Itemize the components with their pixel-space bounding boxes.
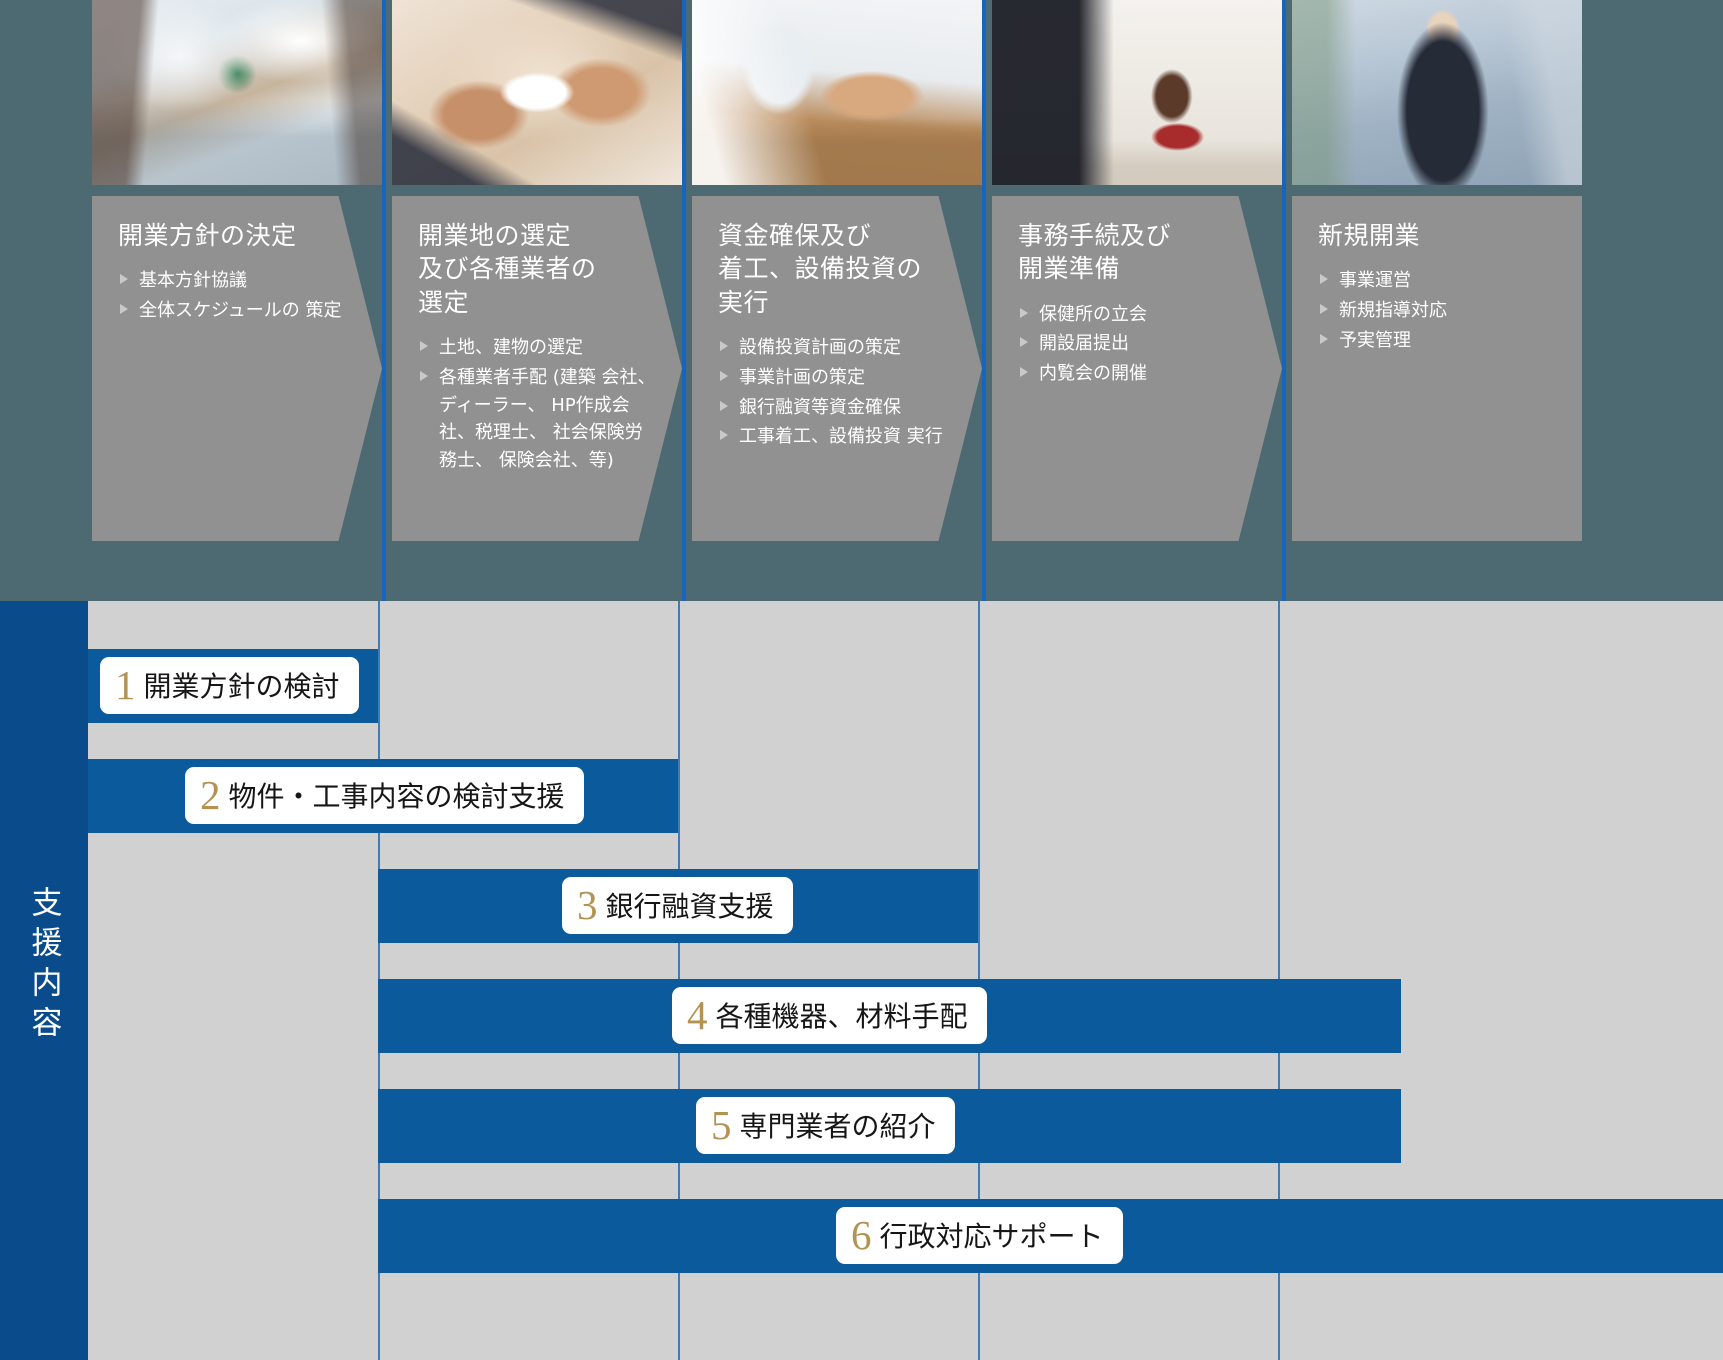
triangle-bullet-icon — [720, 371, 728, 381]
gantt-track: 1 開業方針の検討 2 物件・工事内容の検討支援 3 銀行融資支援 4 各種機器… — [88, 601, 1723, 1360]
phase-photo-2 — [392, 0, 682, 185]
phase-card-5: 新規開業 事業運営 新規指導対応 予実管理 — [1292, 196, 1582, 541]
triangle-bullet-icon — [120, 304, 128, 314]
phase-column-2: 開業地の選定 及び各種業者の 選定 土地、建物の選定 各種業者手配 (建築 会社… — [392, 0, 682, 601]
support-bar-number: 4 — [687, 997, 708, 1034]
phase-item: 開設届提出 — [1018, 330, 1256, 358]
phase-item: 予実管理 — [1318, 327, 1556, 355]
triangle-bullet-icon — [720, 401, 728, 411]
support-bar-number: 1 — [115, 667, 136, 704]
support-side-label-text: 支援内容 — [29, 886, 60, 1046]
triangle-bullet-icon — [420, 341, 428, 351]
triangle-bullet-icon — [420, 371, 428, 381]
triangle-bullet-icon — [1320, 334, 1328, 344]
phase-photo-3 — [692, 0, 982, 185]
phase-item: 土地、建物の選定 — [418, 334, 656, 362]
phase-item: 設備投資計画の策定 — [718, 334, 956, 362]
phase-item: 内覧会の開催 — [1018, 360, 1256, 388]
support-pill-5[interactable]: 5 専門業者の紹介 — [696, 1097, 955, 1154]
phase-item: 銀行融資等資金確保 — [718, 394, 956, 422]
support-gantt: 支援内容 1 開業方針の検討 2 物件・工事内容の検討支援 3 — [0, 601, 1723, 1360]
support-bar-label: 開業方針の検討 — [144, 665, 340, 705]
support-side-label: 支援内容 — [0, 601, 88, 1360]
phase-column-3: 資金確保及び 着工、設備投資の 実行 設備投資計画の策定 事業計画の策定 銀行融… — [692, 0, 982, 601]
phase-column-5: 新規開業 事業運営 新規指導対応 予実管理 — [1292, 0, 1582, 601]
support-bar-label: 行政対応サポート — [880, 1215, 1104, 1255]
phase-title: 開業方針の決定 — [118, 220, 356, 253]
phase-card-1: 開業方針の決定 基本方針協議 全体スケジュールの 策定 — [92, 196, 382, 541]
phase-card-4: 事務手続及び 開業準備 保健所の立会 開設届提出 内覧会の開催 — [992, 196, 1282, 541]
support-bar-label: 物件・工事内容の検討支援 — [229, 775, 565, 815]
phase-item: 保健所の立会 — [1018, 301, 1256, 329]
support-bar-number: 6 — [851, 1217, 872, 1254]
support-pill-3[interactable]: 3 銀行融資支援 — [562, 877, 793, 934]
support-bar-label: 専門業者の紹介 — [740, 1105, 936, 1145]
support-bar-label: 各種機器、材料手配 — [716, 995, 968, 1035]
phase-item-list: 土地、建物の選定 各種業者手配 (建築 会社、ディーラー、 HP作成会社、税理士… — [418, 334, 656, 475]
phase-photo-4 — [992, 0, 1282, 185]
support-pill-2[interactable]: 2 物件・工事内容の検討支援 — [185, 767, 584, 824]
phase-item: 基本方針協議 — [118, 267, 356, 295]
phase-item-list: 基本方針協議 全体スケジュールの 策定 — [118, 267, 356, 325]
triangle-bullet-icon — [1320, 274, 1328, 284]
phase-item-list: 事業運営 新規指導対応 予実管理 — [1318, 267, 1556, 355]
phase-item-list: 設備投資計画の策定 事業計画の策定 銀行融資等資金確保 工事着工、設備投資 実行 — [718, 334, 956, 452]
phase-strip: 開業方針の決定 基本方針協議 全体スケジュールの 策定 開業地の選定 及び各種業… — [0, 0, 1723, 601]
phase-title: 事務手続及び 開業準備 — [1018, 220, 1256, 287]
phase-column-4: 事務手続及び 開業準備 保健所の立会 開設届提出 内覧会の開催 — [992, 0, 1282, 601]
phase-title: 新規開業 — [1318, 220, 1556, 253]
phase-card-2: 開業地の選定 及び各種業者の 選定 土地、建物の選定 各種業者手配 (建築 会社… — [392, 196, 682, 541]
support-pill-1[interactable]: 1 開業方針の検討 — [100, 657, 359, 714]
triangle-bullet-icon — [720, 341, 728, 351]
support-bar-number: 3 — [577, 887, 598, 924]
triangle-bullet-icon — [120, 274, 128, 284]
support-pill-4[interactable]: 4 各種機器、材料手配 — [672, 987, 987, 1044]
phase-divider-4 — [1282, 0, 1286, 601]
triangle-bullet-icon — [1020, 308, 1028, 318]
process-diagram: 開業方針の決定 基本方針協議 全体スケジュールの 策定 開業地の選定 及び各種業… — [0, 0, 1723, 1360]
triangle-bullet-icon — [1020, 337, 1028, 347]
phase-item-list: 保健所の立会 開設届提出 内覧会の開催 — [1018, 301, 1256, 389]
phase-divider-3 — [982, 0, 986, 601]
support-pill-6[interactable]: 6 行政対応サポート — [836, 1207, 1123, 1264]
support-bar-label: 銀行融資支援 — [606, 885, 774, 925]
phase-column-1: 開業方針の決定 基本方針協議 全体スケジュールの 策定 — [92, 0, 382, 601]
triangle-bullet-icon — [1320, 304, 1328, 314]
phase-divider-1 — [382, 0, 386, 601]
phase-divider-2 — [682, 0, 686, 601]
support-bar-number: 2 — [200, 777, 221, 814]
triangle-bullet-icon — [1020, 367, 1028, 377]
phase-item: 事業運営 — [1318, 267, 1556, 295]
triangle-bullet-icon — [720, 430, 728, 440]
phase-item: 事業計画の策定 — [718, 364, 956, 392]
phase-item: 工事着工、設備投資 実行 — [718, 423, 956, 451]
phase-item: 新規指導対応 — [1318, 297, 1556, 325]
phase-title: 資金確保及び 着工、設備投資の 実行 — [718, 220, 956, 320]
phase-photo-1 — [92, 0, 382, 185]
support-bar-number: 5 — [711, 1107, 732, 1144]
phase-photo-5 — [1292, 0, 1582, 185]
phase-item: 全体スケジュールの 策定 — [118, 297, 356, 325]
phase-card-3: 資金確保及び 着工、設備投資の 実行 設備投資計画の策定 事業計画の策定 銀行融… — [692, 196, 982, 541]
phase-title: 開業地の選定 及び各種業者の 選定 — [418, 220, 656, 320]
phase-item: 各種業者手配 (建築 会社、ディーラー、 HP作成会社、税理士、 社会保険労務士… — [418, 364, 656, 476]
